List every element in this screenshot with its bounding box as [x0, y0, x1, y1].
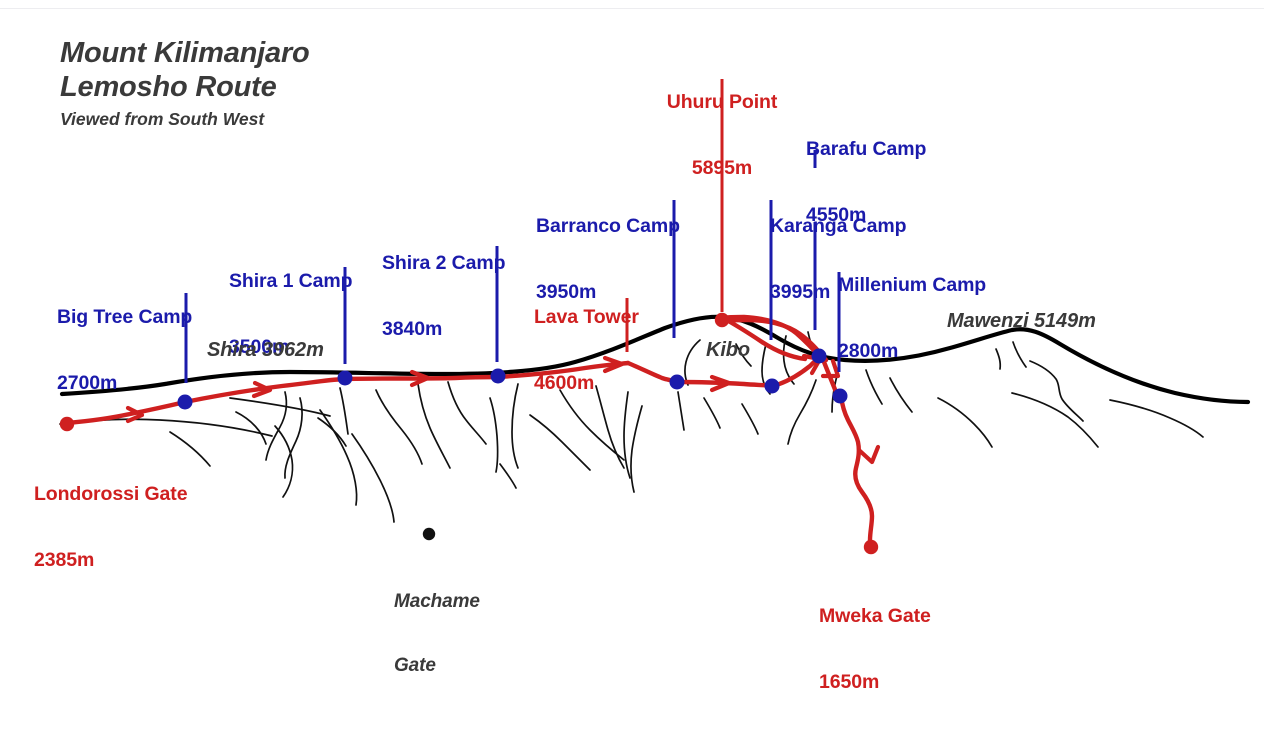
label-lava-tower-name: Lava Tower [534, 306, 639, 328]
label-shira-2-camp-name: Shira 2 Camp [382, 252, 505, 274]
diagram-canvas: Mount Kilimanjaro Lemosho Route Viewed f… [0, 0, 1264, 639]
label-shira-2-camp[interactable]: Shira 2 Camp 3840m [382, 208, 505, 384]
label-londorossi-gate-altitude: 2385m [34, 549, 187, 571]
label-machame-gate-line-1: Machame [394, 591, 480, 612]
label-londorossi-gate-name: Londorossi Gate [34, 483, 187, 505]
marker-barafu-camp[interactable] [812, 349, 827, 364]
label-machame-gate-line-2: Gate [394, 655, 480, 676]
label-lava-tower-altitude: 4600m [534, 372, 639, 394]
label-londorossi-gate[interactable]: Londorossi Gate 2385m [34, 439, 187, 615]
label-big-tree-camp-altitude: 2700m [57, 372, 192, 394]
label-uhuru-point-name: Uhuru Point [610, 91, 834, 113]
marker-uhuru-point[interactable] [715, 313, 729, 327]
marker-barranco-camp[interactable] [670, 375, 685, 390]
label-barafu-camp-name: Barafu Camp [806, 138, 926, 160]
title-subtitle: Viewed from South West [60, 109, 310, 130]
marker-machame-gate[interactable] [423, 528, 435, 540]
label-lava-tower[interactable]: Lava Tower 4600m [534, 262, 639, 438]
label-mweka-gate-altitude: 1650m [819, 671, 931, 693]
label-millenium-camp-altitude: 2800m [838, 340, 986, 362]
label-shira-plateau: Shira 3962m [207, 339, 324, 362]
page-title-block: Mount Kilimanjaro Lemosho Route Viewed f… [60, 36, 310, 130]
label-mweka-gate[interactable]: Mweka Gate 1650m [819, 561, 931, 737]
label-mawenzi-peak: Mawenzi 5149m [947, 310, 1096, 333]
label-shira-2-camp-altitude: 3840m [382, 318, 505, 340]
label-mweka-gate-name: Mweka Gate [819, 605, 931, 627]
title-line-2: Lemosho Route [60, 70, 310, 104]
marker-mweka-gate[interactable] [864, 540, 878, 554]
label-kibo-peak: Kibo [706, 339, 750, 362]
marker-karanga-camp[interactable] [765, 379, 780, 394]
label-big-tree-camp-name: Big Tree Camp [57, 306, 192, 328]
label-shira-1-camp-name: Shira 1 Camp [229, 270, 352, 292]
title-line-1: Mount Kilimanjaro [60, 36, 310, 70]
label-big-tree-camp[interactable]: Big Tree Camp 2700m [57, 262, 192, 438]
label-machame-gate: Machame Gate [394, 548, 480, 720]
label-barranco-camp-name: Barranco Camp [536, 215, 680, 237]
label-millenium-camp-name: Millenium Camp [838, 274, 986, 296]
label-shira-1-camp[interactable]: Shira 1 Camp 3500m [229, 226, 352, 402]
